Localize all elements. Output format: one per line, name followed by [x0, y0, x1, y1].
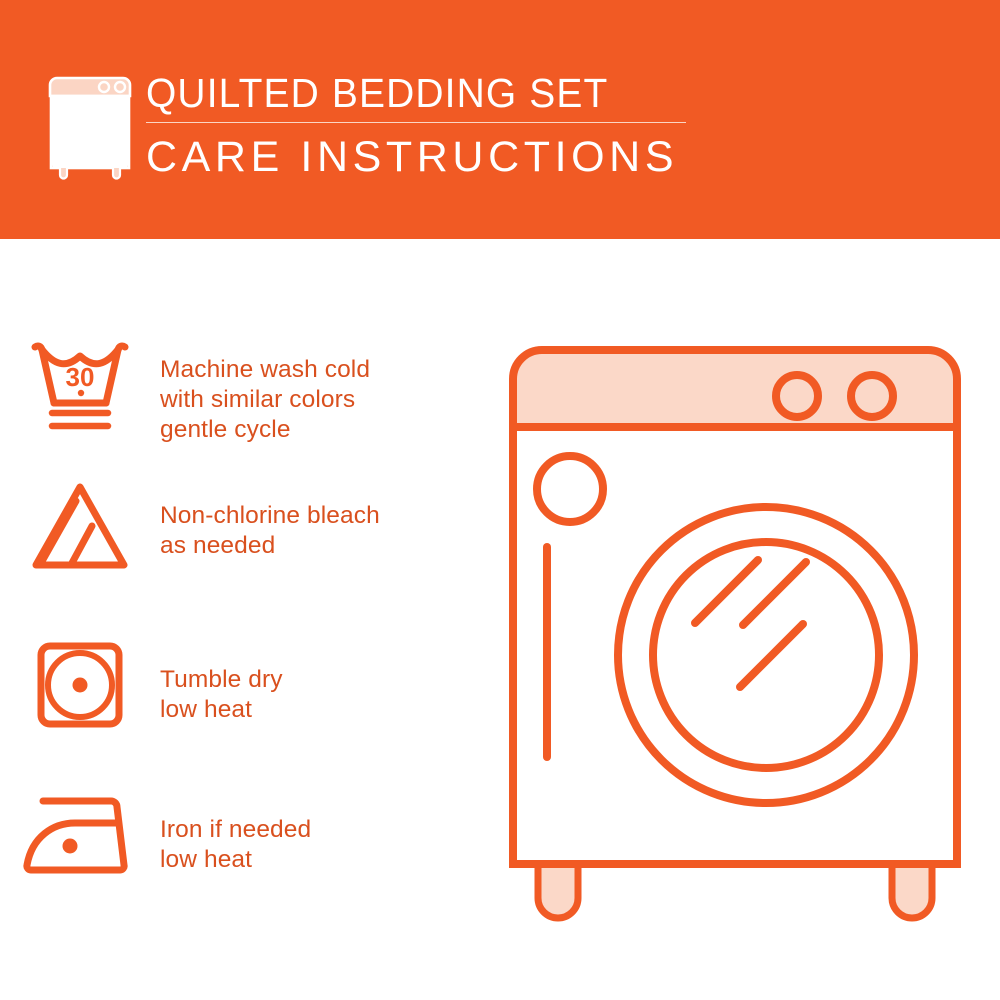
- care-item-iron: Iron if needed low heat: [0, 787, 470, 879]
- tumble-dry-icon: [0, 637, 160, 733]
- washing-machine-illustration: [490, 332, 980, 932]
- door-outer-ring: [618, 507, 914, 803]
- iron-icon: [0, 787, 160, 879]
- control-knob-left: [776, 375, 818, 417]
- header-text-block: QUILTED BEDDING SET CARE INSTRUCTIONS: [146, 70, 706, 181]
- bleach-triangle-icon: [0, 479, 160, 575]
- washing-machine-icon: [44, 72, 136, 180]
- page-title: QUILTED BEDDING SET: [146, 70, 678, 116]
- care-item-label: Non-chlorine bleach as needed: [160, 479, 470, 561]
- care-item-tumble-dry: Tumble dry low heat: [0, 637, 470, 733]
- care-item-machine-wash: 30 Machine wash cold with similar colors…: [0, 339, 470, 445]
- svg-text:30: 30: [66, 362, 95, 392]
- header-banner: QUILTED BEDDING SET CARE INSTRUCTIONS: [0, 0, 1000, 239]
- care-item-bleach: Non-chlorine bleach as needed: [0, 479, 470, 575]
- care-instructions-page: QUILTED BEDDING SET CARE INSTRUCTIONS 30: [0, 0, 1000, 1000]
- detergent-port: [537, 456, 603, 522]
- care-item-label: Iron if needed low heat: [160, 787, 470, 875]
- care-instruction-list: 30 Machine wash cold with similar colors…: [0, 239, 490, 1000]
- page-subtitle: CARE INSTRUCTIONS: [146, 133, 706, 181]
- care-item-label: Tumble dry low heat: [160, 637, 470, 725]
- leg-right: [892, 860, 932, 918]
- wash-tub-icon: 30: [0, 339, 160, 435]
- care-item-label: Machine wash cold with similar colors ge…: [160, 339, 470, 445]
- leg-left: [538, 860, 578, 918]
- title-divider: [146, 122, 686, 123]
- control-knob-right: [851, 375, 893, 417]
